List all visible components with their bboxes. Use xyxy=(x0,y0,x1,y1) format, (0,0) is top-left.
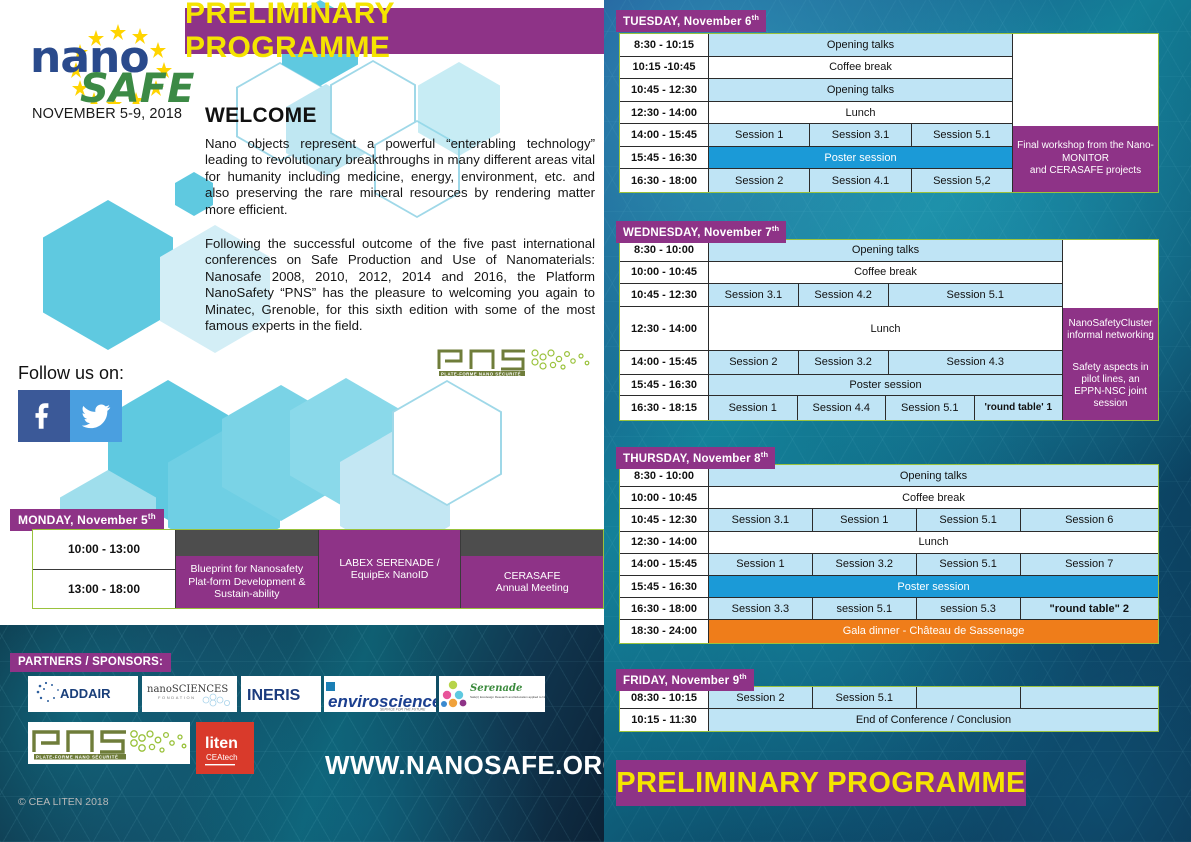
twitter-button[interactable] xyxy=(70,390,122,442)
table-row: End of Conference / Conclusion xyxy=(708,709,1158,731)
session-cell[interactable]: Lunch xyxy=(709,102,1012,124)
session-cell[interactable]: Session 4.4 xyxy=(798,396,887,420)
tuesday-time-column: 8:30 - 10:15 10:15 -10:45 10:45 - 12:30 … xyxy=(620,34,708,192)
pns-partner-subtitle: PLATE-FORME NANO SÉCURITÉ xyxy=(36,754,118,759)
poster-session-cell[interactable]: Poster session xyxy=(709,576,1158,597)
session-cell[interactable]: Session 3.3 xyxy=(709,598,813,619)
liten-logo-text: liten xyxy=(205,735,238,752)
welcome-paragraph-2: Following the successful outcome of the … xyxy=(205,236,595,334)
table-row: Gala dinner - Château de Sassenage xyxy=(708,620,1158,642)
time-cell: 15:45 - 16:30 xyxy=(620,147,708,170)
wednesday-side-column: NanoSafetyCluster informal networking Sa… xyxy=(1062,240,1158,420)
pns-subtitle: PLATE-FORME NANO SÉCURITÉ xyxy=(441,372,521,377)
time-cell: 14:00 - 15:45 xyxy=(620,351,708,375)
session-cell[interactable]: Session 3.1 xyxy=(709,284,799,307)
side-spacer xyxy=(1062,240,1158,308)
time-cell: 10:45 - 12:30 xyxy=(620,509,708,531)
session-cell[interactable]: Session 3.1 xyxy=(709,509,813,530)
tuesday-day-label: TUESDAY, November 6 xyxy=(623,16,752,28)
session-cell[interactable]: Session 3.1 xyxy=(810,124,911,146)
monday-time-cell: 10:00 - 13:00 xyxy=(33,530,175,570)
left-panel: nano SAFE NOVEMBER 5-9, 2018 PRELIMINARY… xyxy=(0,0,604,842)
session-cell-empty[interactable] xyxy=(1021,687,1158,708)
table-row: Poster session xyxy=(708,147,1012,170)
table-row: Session 1 Session 4.4 Session 5.1 'round… xyxy=(708,396,1062,420)
wednesday-day-tag: WEDNESDAY, November 7th xyxy=(616,221,786,243)
serenade-logo[interactable]: Serenade Safe(r) Ecodesign Research and … xyxy=(439,676,545,712)
tuesday-side-column: Final workshop from the Nano-MONITOR and… xyxy=(1012,34,1158,192)
serenade-logo-mark: Serenade Safe(r) Ecodesign Research and … xyxy=(439,676,545,712)
friday-day-label: FRIDAY, November 9 xyxy=(623,675,739,687)
session-cell[interactable]: Opening talks xyxy=(709,240,1062,261)
thursday-grid: Opening talks Coffee break Session 3.1 S… xyxy=(708,465,1158,643)
monday-day-tag: MONDAY, November 5th xyxy=(10,509,164,531)
table-row: Coffee break xyxy=(708,487,1158,509)
table-row: Session 3.1 Session 4.2 Session 5.1 xyxy=(708,284,1062,308)
table-row: Session 3.3 session 5.1 session 5.3 "rou… xyxy=(708,598,1158,620)
session-cell[interactable]: Coffee break xyxy=(709,57,1012,79)
gala-dinner-cell[interactable]: Gala dinner - Château de Sassenage xyxy=(709,620,1158,642)
monday-day-suffix: th xyxy=(148,512,156,521)
time-cell: 12:30 - 14:00 xyxy=(620,532,708,554)
conference-dates: NOVEMBER 5-9, 2018 xyxy=(32,106,182,122)
session-cell[interactable]: Session 6 xyxy=(1021,509,1158,530)
tuesday-day-suffix: th xyxy=(752,13,759,22)
time-cell: 8:30 - 10:15 xyxy=(620,34,708,57)
twitter-icon xyxy=(79,399,113,433)
monday-columns: Blueprint for Nanosafety Plat-form Devel… xyxy=(175,530,603,608)
table-row: Poster session xyxy=(708,576,1158,598)
session-cell[interactable]: session 5.3 xyxy=(917,598,1021,619)
table-row: Poster session xyxy=(708,375,1062,397)
session-cell[interactable]: Session 4.1 xyxy=(810,169,911,192)
session-cell[interactable]: Session 5,2 xyxy=(912,169,1012,192)
session-cell[interactable]: Coffee break xyxy=(709,262,1062,283)
table-row: Session 1 Session 3.2 Session 5.1 Sessio… xyxy=(708,554,1158,576)
monday-blocked-slot xyxy=(461,530,603,556)
session-cell[interactable]: Session 1 xyxy=(813,509,917,530)
table-row: Lunch xyxy=(708,102,1012,125)
monday-event-label: CERASAFE Annual Meeting xyxy=(461,556,603,608)
monday-column-blueprint[interactable]: Blueprint for Nanosafety Plat-form Devel… xyxy=(175,530,318,608)
time-cell: 10:45 - 12:30 xyxy=(620,79,708,102)
time-cell: 16:30 - 18:00 xyxy=(620,598,708,620)
nanosciences-foundation-logo[interactable]: nanoSCIENCES FONDATION xyxy=(142,676,237,712)
hexagon-decoration xyxy=(43,200,173,350)
wednesday-day-label: WEDNESDAY, November 7 xyxy=(623,227,772,239)
pns-logo-mark: PLATE-FORME NANO SÉCURITÉ xyxy=(28,722,190,764)
session-cell[interactable]: Opening talks xyxy=(709,79,1012,101)
footer-banner-text: PRELIMINARY PROGRAMME xyxy=(616,767,1026,800)
table-row: Session 2 Session 4.1 Session 5,2 xyxy=(708,169,1012,192)
time-cell: 15:45 - 16:30 xyxy=(620,375,708,397)
wednesday-schedule-table: 8:30 - 10:00 10:00 - 10:45 10:45 - 12:30… xyxy=(619,239,1159,421)
monday-schedule-table: 10:00 - 13:00 13:00 - 18:00 Blueprint fo… xyxy=(32,529,604,609)
session-cell[interactable]: End of Conference / Conclusion xyxy=(709,709,1158,731)
follow-us-label: Follow us on: xyxy=(18,363,124,384)
serenade-logo-text: Serenade xyxy=(470,683,522,694)
tuesday-day-tag: TUESDAY, November 6th xyxy=(616,10,766,32)
session-cell[interactable]: Session 5.1 xyxy=(886,396,975,420)
liten-logo-sub: CEAtech xyxy=(206,753,238,762)
wednesday-side-panel-1[interactable]: NanoSafetyCluster informal networking xyxy=(1062,308,1158,352)
table-row: Session 1 Session 3.1 Session 5.1 xyxy=(708,124,1012,147)
time-cell: 10:15 - 11:30 xyxy=(620,709,708,731)
monday-time-cell: 13:00 - 18:00 xyxy=(33,570,175,609)
time-cell: 16:30 - 18:00 xyxy=(620,169,708,192)
thursday-day-label: THURSDAY, November 8 xyxy=(623,453,761,465)
welcome-paragraph-1: Nano objects represent a powerful “enter… xyxy=(205,136,595,218)
round-table-cell[interactable]: 'round table' 1 xyxy=(975,396,1063,420)
welcome-heading: WELCOME xyxy=(205,104,317,128)
friday-grid: Session 2 Session 5.1 End of Conference … xyxy=(708,687,1158,731)
envirosciences-logo-mark: envirosciences SERVICE FOR THE FUTURE xyxy=(324,676,436,712)
tuesday-side-panel[interactable]: Final workshop from the Nano-MONITOR and… xyxy=(1012,126,1158,192)
session-cell[interactable]: Session 5.1 xyxy=(813,687,917,708)
copyright-text: © CEA LITEN 2018 xyxy=(18,796,109,808)
liten-cea-tech-logo[interactable]: liten CEAtech xyxy=(196,722,254,774)
time-cell: 12:30 - 14:00 xyxy=(620,102,708,125)
monday-column-cerasafe[interactable]: CERASAFE Annual Meeting xyxy=(460,530,603,608)
table-row: Session 3.1 Session 1 Session 5.1 Sessio… xyxy=(708,509,1158,531)
addair-logo[interactable]: ADDAIR xyxy=(28,676,138,712)
time-cell: 10:15 -10:45 xyxy=(620,57,708,80)
monday-column-labex[interactable]: LABEX SERENADE / EquipEx NanoID xyxy=(318,530,461,608)
session-cell-empty[interactable] xyxy=(917,687,1021,708)
monday-time-column: 10:00 - 13:00 13:00 - 18:00 xyxy=(33,530,175,608)
envirosciences-logo[interactable]: envirosciences SERVICE FOR THE FUTURE xyxy=(324,676,436,712)
monday-day-label: MONDAY, November 5 xyxy=(18,513,148,527)
session-cell[interactable]: Session 5.1 xyxy=(889,284,1063,307)
session-cell[interactable]: Lunch xyxy=(709,307,1062,350)
nanosciences-logo-mark: nanoSCIENCES FONDATION xyxy=(142,676,237,712)
facebook-icon xyxy=(27,399,61,433)
table-row: Opening talks xyxy=(708,465,1158,487)
session-cell[interactable]: Lunch xyxy=(709,532,1158,553)
session-cell[interactable]: Session 1 xyxy=(709,396,798,420)
session-cell[interactable]: Session 3.2 xyxy=(813,554,917,575)
monday-event-label: LABEX SERENADE / EquipEx NanoID xyxy=(319,530,461,608)
time-cell: 8:30 - 10:00 xyxy=(620,240,708,262)
wednesday-grid: Opening talks Coffee break Session 3.1 S… xyxy=(708,240,1062,420)
friday-day-tag: FRIDAY, November 9th xyxy=(616,669,754,691)
banner-title-text: PRELIMINARY PROGRAMME xyxy=(185,0,604,65)
nanosciences-logo-text: nanoSCIENCES xyxy=(147,684,228,695)
time-cell: 15:45 - 16:30 xyxy=(620,576,708,598)
poster-root: nano SAFE NOVEMBER 5-9, 2018 PRELIMINARY… xyxy=(0,0,1191,842)
session-cell[interactable]: Session 1 xyxy=(709,124,810,146)
preliminary-programme-banner-bottom: PRELIMINARY PROGRAMME xyxy=(616,760,1026,806)
ineris-logo-mark: INERIS xyxy=(241,676,321,712)
friday-time-column: 08:30 - 10:15 10:15 - 11:30 xyxy=(620,687,708,731)
session-cell[interactable]: Session 4.3 xyxy=(889,351,1063,374)
session-cell[interactable]: Session 5.1 xyxy=(917,554,1021,575)
time-cell: 16:30 - 18:15 xyxy=(620,396,708,420)
addair-logo-mark: ADDAIR xyxy=(28,676,138,712)
friday-day-suffix: th xyxy=(739,672,746,681)
thursday-schedule-table: 8:30 - 10:00 10:00 - 10:45 10:45 - 12:30… xyxy=(619,464,1159,644)
time-cell: 12:30 - 14:00 xyxy=(620,307,708,351)
time-cell: 10:45 - 12:30 xyxy=(620,284,708,308)
poster-session-cell[interactable]: Poster session xyxy=(709,147,1012,169)
time-cell: 10:00 - 10:45 xyxy=(620,262,708,284)
session-cell[interactable]: Session 4.2 xyxy=(799,284,889,307)
session-cell[interactable]: Coffee break xyxy=(709,487,1158,508)
envirosciences-logo-sub: SERVICE FOR THE FUTURE xyxy=(380,708,426,712)
pns-logo-partner[interactable]: PLATE-FORME NANO SÉCURITÉ xyxy=(28,722,190,764)
session-cell[interactable]: Session 2 xyxy=(709,351,799,374)
tuesday-schedule-table: 8:30 - 10:15 10:15 -10:45 10:45 - 12:30 … xyxy=(619,33,1159,193)
time-cell: 10:00 - 10:45 xyxy=(620,487,708,509)
table-row: Session 2 Session 5.1 xyxy=(708,687,1158,709)
session-cell[interactable]: Opening talks xyxy=(709,34,1012,56)
table-row: Session 2 Session 3.2 Session 4.3 xyxy=(708,351,1062,375)
monday-blocked-slot xyxy=(176,530,318,556)
website-url[interactable]: WWW.NANOSAFE.ORG xyxy=(325,750,604,781)
side-spacer xyxy=(1012,34,1158,126)
session-cell[interactable]: session 5.1 xyxy=(813,598,917,619)
session-cell[interactable]: Session 1 xyxy=(709,554,813,575)
facebook-button[interactable] xyxy=(18,390,70,442)
table-row: Opening talks xyxy=(708,240,1062,262)
session-cell[interactable]: Session 5.1 xyxy=(912,124,1012,146)
session-cell[interactable]: Opening talks xyxy=(709,465,1158,486)
wednesday-time-column: 8:30 - 10:00 10:00 - 10:45 10:45 - 12:30… xyxy=(620,240,708,420)
friday-schedule-table: 08:30 - 10:15 10:15 - 11:30 Session 2 Se… xyxy=(619,686,1159,732)
time-cell: 14:00 - 15:45 xyxy=(620,554,708,576)
table-row: Opening talks xyxy=(708,79,1012,102)
table-row: Coffee break xyxy=(708,57,1012,80)
pns-logo-small: PLATE-FORME NANO SÉCURITÉ xyxy=(435,343,595,381)
liten-logo-mark: liten CEAtech xyxy=(196,722,254,774)
time-cell: 14:00 - 15:45 xyxy=(620,124,708,147)
session-cell[interactable]: Session 2 xyxy=(709,169,810,192)
thursday-day-suffix: th xyxy=(761,450,768,459)
time-cell: 18:30 - 24:00 xyxy=(620,620,708,642)
table-row: Lunch xyxy=(708,307,1062,351)
table-row: Coffee break xyxy=(708,262,1062,284)
nanosciences-logo-sub: FONDATION xyxy=(158,695,196,700)
wednesday-day-suffix: th xyxy=(772,224,779,233)
tuesday-grid: Opening talks Coffee break Opening talks… xyxy=(708,34,1012,192)
session-cell[interactable]: Session 3.2 xyxy=(799,351,889,374)
ineris-logo[interactable]: INERIS xyxy=(241,676,321,712)
addair-logo-text: ADDAIR xyxy=(60,686,111,701)
thursday-time-column: 8:30 - 10:00 10:00 - 10:45 10:45 - 12:30… xyxy=(620,465,708,643)
poster-session-cell[interactable]: Poster session xyxy=(709,375,1062,396)
preliminary-programme-banner-top: PRELIMINARY PROGRAMME xyxy=(185,8,604,54)
serenade-logo-sub: Safe(r) Ecodesign Research and Education… xyxy=(470,695,545,699)
wednesday-side-panel-2[interactable]: Safety aspects in pilot lines, an EPPN-N… xyxy=(1062,352,1158,420)
partners-sponsors-tag: PARTNERS / SPONSORS: xyxy=(10,653,171,672)
thursday-day-tag: THURSDAY, November 8th xyxy=(616,447,775,469)
session-cell[interactable]: Session 5.1 xyxy=(917,509,1021,530)
table-row: Lunch xyxy=(708,532,1158,554)
table-row: Opening talks xyxy=(708,34,1012,57)
round-table-cell[interactable]: "round table" 2 xyxy=(1021,598,1158,619)
monday-event-label: Blueprint for Nanosafety Plat-form Devel… xyxy=(176,556,318,608)
session-cell[interactable]: Session 7 xyxy=(1021,554,1158,575)
ineris-logo-text: INERIS xyxy=(247,687,301,704)
